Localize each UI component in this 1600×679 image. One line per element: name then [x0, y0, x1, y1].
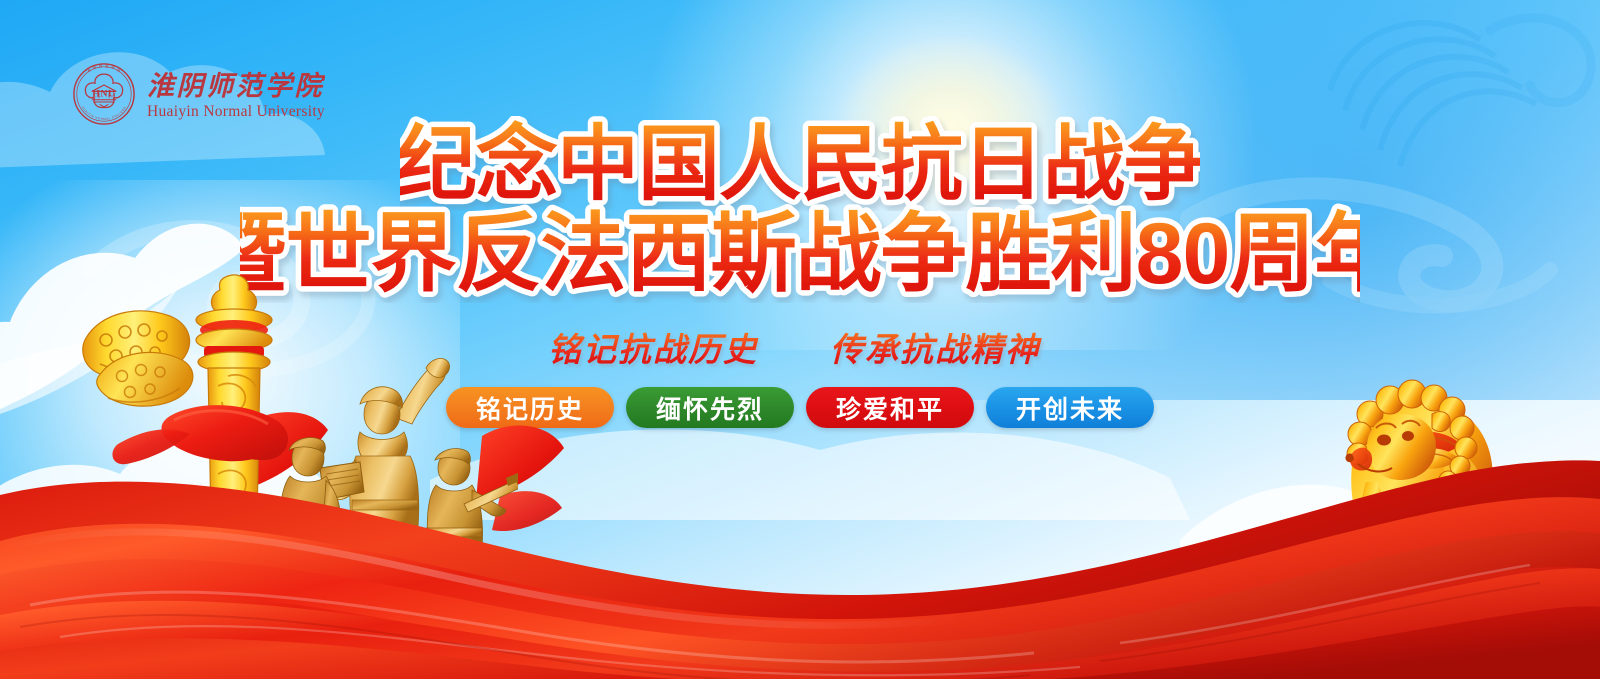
commemoration-banner: HNU 淮 阴 师 范 学 院 HUAIYIN NORMAL COLLEGE: [0, 0, 1600, 679]
svg-text:纪念中国人民抗日战争: 纪念中国人民抗日战争: [400, 119, 1200, 210]
pill-create-future[interactable]: 开创未来: [986, 387, 1154, 428]
pill-honor-martyrs[interactable]: 缅怀先烈: [626, 387, 794, 428]
pill-remember-history[interactable]: 铭记历史: [446, 387, 614, 428]
svg-text:传承抗战精神: 传承抗战精神: [830, 332, 1042, 369]
university-name-cn: 淮阴师范学院: [147, 68, 325, 102]
svg-text:淮 阴 师 范 学 院: 淮 阴 师 范 学 院: [86, 63, 122, 73]
svg-text:HNU: HNU: [92, 89, 115, 100]
banner-title: 纪念中国人民抗日战争 暨世界反法西斯战争胜利80周年: [0, 116, 1600, 303]
title-line-1: 纪念中国人民抗日战争: [0, 116, 1600, 211]
slogan-pill-row: 铭记历史 缅怀先烈 珍爱和平 开创未来: [0, 387, 1600, 428]
svg-text:淮阴师范学院: 淮阴师范学院: [147, 71, 325, 101]
red-silk-ribbon-waves: [0, 399, 1600, 679]
svg-text:铭记抗战历史: 铭记抗战历史: [548, 332, 759, 369]
logo-text-group: 淮阴师范学院 Huaiyin Normal University: [147, 68, 325, 120]
golden-guardian-lion: [1296, 352, 1526, 567]
title-line-2: 暨世界反法西斯战争胜利80周年: [0, 203, 1600, 303]
pill-cherish-peace[interactable]: 珍爱和平: [806, 387, 974, 428]
banner-subtitle: 铭记抗战历史 传承抗战精神: [0, 326, 1600, 377]
svg-text:暨世界反法西斯战争胜利80周年: 暨世界反法西斯战争胜利80周年: [240, 206, 1360, 302]
